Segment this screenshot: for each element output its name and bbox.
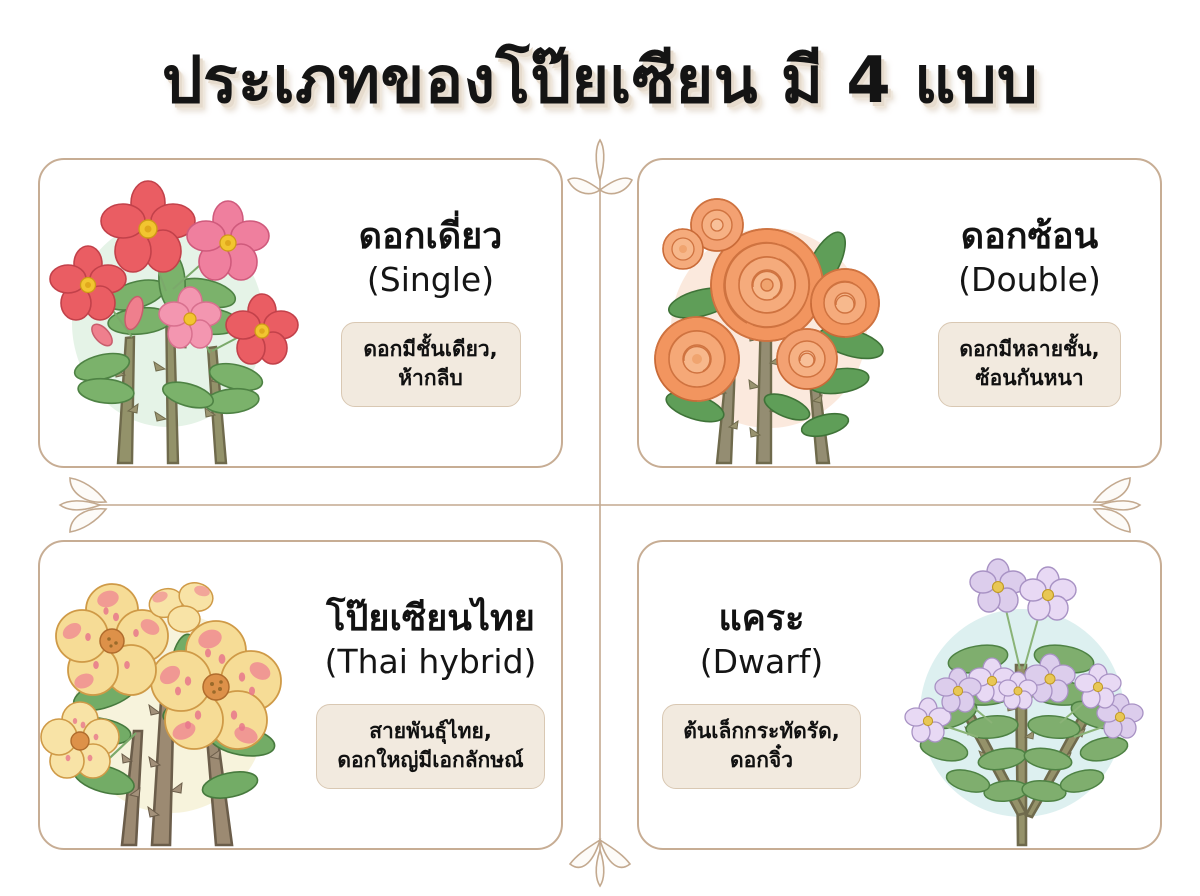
dwarf-flower-plant-illustration-icon <box>892 545 1160 845</box>
card-double-text: ดอกซ้อน (Double) ดอกมีหลายชั้น, ซ้อนกันห… <box>907 160 1160 466</box>
page-title: ประเภทของโป๊ยเซียน มี 4 แบบ <box>162 43 1038 120</box>
card-single-text: ดอกเดี่ยว (Single) ดอกมีชั้นเดียว, ห้ากล… <box>308 160 561 466</box>
card-double-note: ดอกมีหลายชั้น, ซ้อนกันหนา <box>938 322 1120 407</box>
infographic-page: ประเภทของโป๊ยเซียน มี 4 แบบ <box>0 0 1200 896</box>
card-dwarf[interactable]: แคระ (Dwarf) ต้นเล็กกระทัดรัด, ดอกจิ๋ว <box>637 540 1162 850</box>
note-line: สายพันธุ์ไทย, <box>337 717 523 746</box>
card-double-name-en: (Double) <box>958 260 1101 300</box>
note-line: ดอกมีชั้นเดียว, <box>362 335 500 364</box>
card-thai-hybrid-name-en: (Thai hybrid) <box>325 642 537 682</box>
single-flower-plant-illustration-icon <box>40 163 308 463</box>
note-line: ดอกใหญ่มีเอกลักษณ์ <box>337 746 523 775</box>
card-thai-hybrid-note: สายพันธุ์ไทย, ดอกใหญ่มีเอกลักษณ์ <box>316 704 544 789</box>
card-single-name-en: (Single) <box>367 260 494 300</box>
note-line: ซ้อนกันหนา <box>959 364 1099 393</box>
card-grid: ดอกเดี่ยว (Single) ดอกมีชั้นเดียว, ห้ากล… <box>38 158 1162 868</box>
page-title-wrapper: ประเภทของโป๊ยเซียน มี 4 แบบ <box>0 26 1200 136</box>
card-double-name-th: ดอกซ้อน <box>961 216 1098 258</box>
note-line: ต้นเล็กกระทัดรัด, <box>683 717 839 746</box>
card-dwarf-name-th: แคระ <box>719 598 805 640</box>
card-dwarf-text: แคระ (Dwarf) ต้นเล็กกระทัดรัด, ดอกจิ๋ว <box>639 542 892 848</box>
note-line: ดอกมีหลายชั้น, <box>959 335 1099 364</box>
double-flower-plant-illustration-icon <box>639 163 907 463</box>
card-single-name-th: ดอกเดี่ยว <box>359 216 503 258</box>
card-dwarf-note: ต้นเล็กกระทัดรัด, ดอกจิ๋ว <box>662 704 860 789</box>
card-single[interactable]: ดอกเดี่ยว (Single) ดอกมีชั้นเดียว, ห้ากล… <box>38 158 563 468</box>
card-single-note: ดอกมีชั้นเดียว, ห้ากลีบ <box>341 322 521 407</box>
card-thai-hybrid-text: โป๊ยเซียนไทย (Thai hybrid) สายพันธุ์ไทย,… <box>308 542 561 848</box>
note-line: ห้ากลีบ <box>362 364 500 393</box>
card-dwarf-name-en: (Dwarf) <box>700 642 824 682</box>
thai-hybrid-flower-plant-illustration-icon <box>40 545 308 845</box>
note-line: ดอกจิ๋ว <box>683 746 839 775</box>
card-double[interactable]: ดอกซ้อน (Double) ดอกมีหลายชั้น, ซ้อนกันห… <box>637 158 1162 468</box>
card-thai-hybrid-name-th: โป๊ยเซียนไทย <box>326 598 535 640</box>
card-thai-hybrid[interactable]: โป๊ยเซียนไทย (Thai hybrid) สายพันธุ์ไทย,… <box>38 540 563 850</box>
